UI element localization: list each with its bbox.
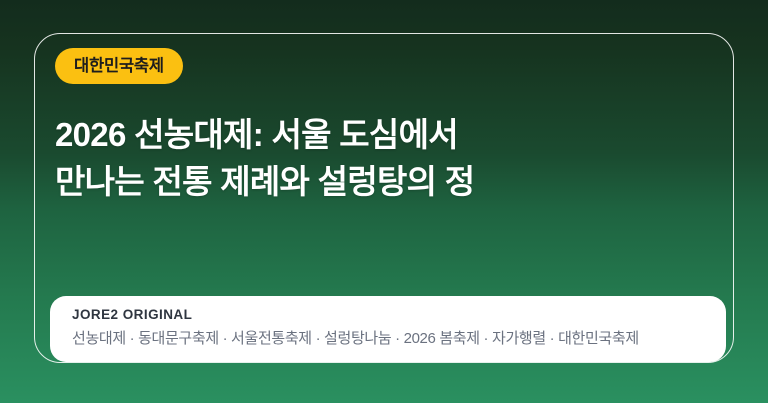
headline-title: 2026 선농대제: 서울 도심에서 만나는 전통 제례와 설렁탕의 정	[55, 112, 695, 206]
category-badge: 대한민국축제	[55, 48, 183, 84]
brand-label: JORE2 ORIGINAL	[72, 307, 726, 324]
category-badge-label: 대한민국축제	[74, 58, 164, 75]
tag-list: 선농대제 · 동대문구축제 · 서울전통축제 · 설렁탕나눔 · 2026 봄축…	[72, 329, 726, 349]
footer-info-card: JORE2 ORIGINAL 선농대제 · 동대문구축제 · 서울전통축제 · …	[50, 296, 726, 362]
promo-card: 대한민국축제 2026 선농대제: 서울 도심에서 만나는 전통 제례와 설렁탕…	[0, 0, 768, 403]
